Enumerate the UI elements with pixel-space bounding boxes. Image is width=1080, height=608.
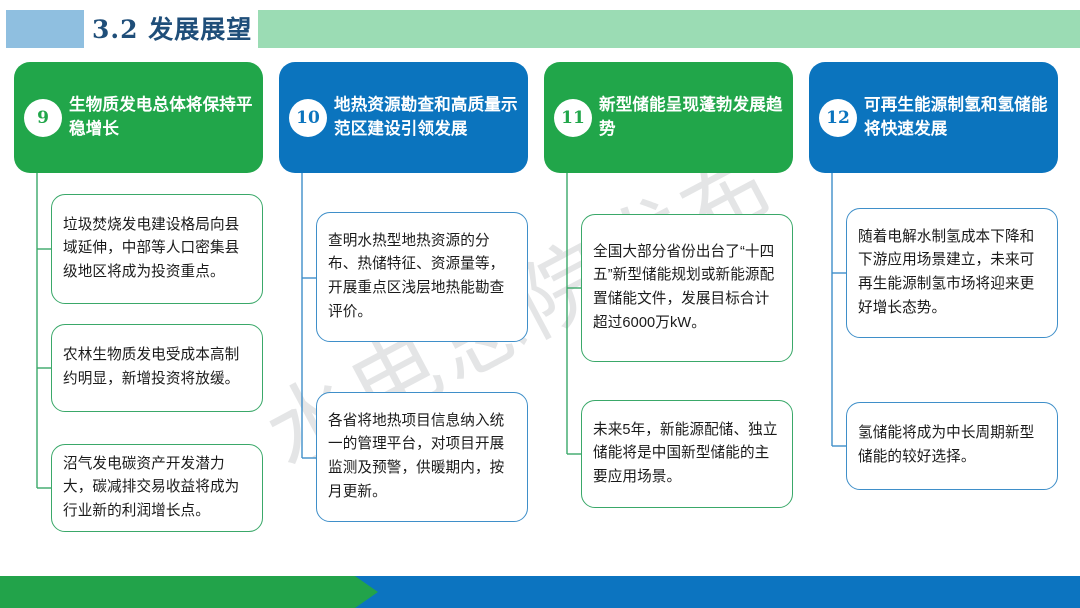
card-heading-9: 生物质发电总体将保持平稳增长 [69,94,255,142]
card-badge-11: 11 [554,99,592,137]
column-9: 9 生物质发电总体将保持平稳增长 垃圾焚烧发电建设格局向县域延伸，中部等人口密集… [14,62,263,562]
header-divider [0,50,1080,52]
leaf-box[interactable]: 全国大部分省份出台了“十四五”新型储能规划或新能源配置储能文件，发展目标合计超过… [581,214,793,362]
header-green-band [258,10,1080,48]
card-badge-12: 12 [819,99,857,137]
column-12: 12 可再生能源制氢和氢储能将快速发展 随着电解水制氢成本下降和下游应用场景建立… [809,62,1058,562]
leaf-text: 未来5年，新能源配储、独立储能将是中国新型储能的主要应用场景。 [593,419,781,490]
card-badge-9: 9 [24,99,62,137]
column-11: 11 新型储能呈现蓬勃发展趋势 全国大部分省份出台了“十四五”新型储能规划或新能… [544,62,793,562]
leaf-box[interactable]: 各省将地热项目信息纳入统一的管理平台，对项目开展监测及预警，供暖期内，按月更新。 [316,392,528,522]
header-accent-chip [6,10,84,48]
card-heading-11: 新型储能呈现蓬勃发展趋势 [599,94,785,142]
leaf-box[interactable]: 沼气发电碳资产开发潜力大，碳减排交易收益将成为行业新的利润增长点。 [51,444,263,532]
slide-root: 3.2 发展展望 水电总院发布 9 生物质发电总体将保持平稳增长 垃圾焚烧发电建… [0,0,1080,608]
card-header-12[interactable]: 12 可再生能源制氢和氢储能将快速发展 [809,62,1058,173]
card-badge-10: 10 [289,99,327,137]
leaf-text: 沼气发电碳资产开发潜力大，碳减排交易收益将成为行业新的利润增长点。 [63,453,251,524]
leaf-text: 农林生物质发电受成本高制约明显，新增投资将放缓。 [63,344,251,391]
leaf-text: 垃圾焚烧发电建设格局向县域延伸，中部等人口密集县级地区将成为投资重点。 [63,214,251,285]
leaf-text: 全国大部分省份出台了“十四五”新型储能规划或新能源配置储能文件，发展目标合计超过… [593,241,781,336]
leaf-text: 随着电解水制氢成本下降和下游应用场景建立，未来可再生能源制氢市场将迎来更好增长态… [858,226,1046,321]
footer-green-arrow [0,576,378,608]
leaf-text: 氢储能将成为中长周期新型储能的较好选择。 [858,422,1046,469]
card-header-11[interactable]: 11 新型储能呈现蓬勃发展趋势 [544,62,793,173]
leaf-text: 查明水热型地热资源的分布、热储特征、资源量等，开展重点区浅层地热能勘查评价。 [328,230,516,325]
leaf-box[interactable]: 随着电解水制氢成本下降和下游应用场景建立，未来可再生能源制氢市场将迎来更好增长态… [846,208,1058,338]
card-header-9[interactable]: 9 生物质发电总体将保持平稳增长 [14,62,263,173]
columns-container: 9 生物质发电总体将保持平稳增长 垃圾焚烧发电建设格局向县域延伸，中部等人口密集… [0,62,1080,562]
leaf-box[interactable]: 农林生物质发电受成本高制约明显，新增投资将放缓。 [51,324,263,412]
card-heading-12: 可再生能源制氢和氢储能将快速发展 [864,94,1050,142]
slide-header: 3.2 发展展望 [0,0,1080,52]
page-title: 3.2 发展展望 [92,6,252,50]
column-10: 10 地热资源勘查和高质量示范区建设引领发展 查明水热型地热资源的分布、热储特征… [279,62,528,562]
leaf-box[interactable]: 查明水热型地热资源的分布、热储特征、资源量等，开展重点区浅层地热能勘查评价。 [316,212,528,342]
card-heading-10: 地热资源勘查和高质量示范区建设引领发展 [334,94,520,142]
leaf-box[interactable]: 垃圾焚烧发电建设格局向县域延伸，中部等人口密集县级地区将成为投资重点。 [51,194,263,304]
footer-decoration-bar [0,576,1080,608]
leaf-box[interactable]: 氢储能将成为中长周期新型储能的较好选择。 [846,402,1058,490]
leaf-box[interactable]: 未来5年，新能源配储、独立储能将是中国新型储能的主要应用场景。 [581,400,793,508]
leaf-text: 各省将地热项目信息纳入统一的管理平台，对项目开展监测及预警，供暖期内，按月更新。 [328,410,516,505]
card-header-10[interactable]: 10 地热资源勘查和高质量示范区建设引领发展 [279,62,528,173]
